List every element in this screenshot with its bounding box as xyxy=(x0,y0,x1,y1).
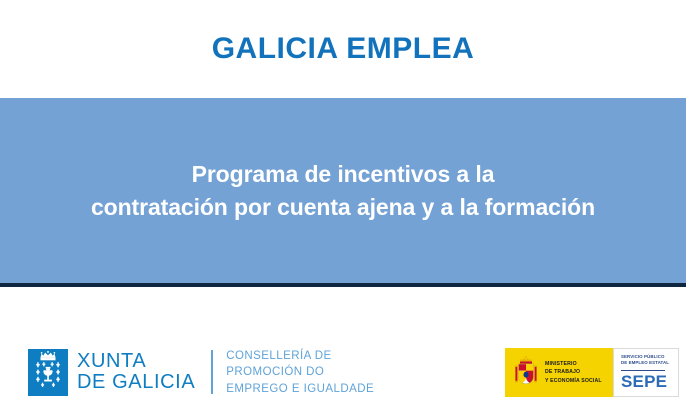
government-logos: MINISTERIO DE TRABAJO Y ECONOMÍA SOCIAL … xyxy=(505,348,679,397)
title-area: GALICIA EMPLEA xyxy=(0,0,686,98)
sepe-logo: SERVICIO PÚBLICO DE EMPLEO ESTATAL SEPE xyxy=(613,348,679,397)
sepe-acronym: SEPE xyxy=(621,373,678,390)
page-title: GALICIA EMPLEA xyxy=(212,34,475,64)
ministerio-line-2: DE TRABAJO xyxy=(545,368,602,376)
sepe-subtitle: SERVICIO PÚBLICO DE EMPLEO ESTATAL xyxy=(621,354,678,367)
conselleria-line-1: CONSELLERÍA DE xyxy=(226,348,374,364)
ministerio-line-3: Y ECONOMÍA SOCIAL xyxy=(545,377,602,385)
banner-line-1: Programa de incentivos a la xyxy=(23,158,663,191)
xunta-wordmark: XUNTA DE GALICIA xyxy=(77,351,195,393)
conselleria-line-2: PROMOCIÓN DO xyxy=(226,364,374,380)
conselleria-block: CONSELLERÍA DE PROMOCIÓN DO EMPREGO E IG… xyxy=(226,348,374,397)
xunta-word-line-2: DE GALICIA xyxy=(77,372,195,393)
ministerio-text: MINISTERIO DE TRABAJO Y ECONOMÍA SOCIAL xyxy=(545,360,602,384)
banner-text-block: Programa de incentivos a la contratación… xyxy=(23,158,663,223)
sepe-rule xyxy=(621,370,665,371)
xunta-word-line-1: XUNTA xyxy=(77,351,195,372)
xunta-de-galicia-logo: XUNTA DE GALICIA CONSELLERÍA DE PROMOCIÓ… xyxy=(28,348,374,397)
program-banner: Programa de incentivos a la contratación… xyxy=(0,98,686,283)
xunta-coat-of-arms-icon xyxy=(28,349,68,396)
ministerio-de-trabajo-logo: MINISTERIO DE TRABAJO Y ECONOMÍA SOCIAL xyxy=(505,348,613,397)
conselleria-line-3: EMPREGO E IGUALDADE xyxy=(226,381,374,397)
ministerio-line-1: MINISTERIO xyxy=(545,360,602,368)
banner-line-2: contratación por cuenta ajena y a la for… xyxy=(23,191,663,224)
footer: XUNTA DE GALICIA CONSELLERÍA DE PROMOCIÓ… xyxy=(0,287,686,410)
logo-divider xyxy=(211,350,213,394)
spain-coat-of-arms-icon xyxy=(513,356,539,390)
sepe-subtitle-line-2: DE EMPLEO ESTATAL xyxy=(621,360,678,366)
